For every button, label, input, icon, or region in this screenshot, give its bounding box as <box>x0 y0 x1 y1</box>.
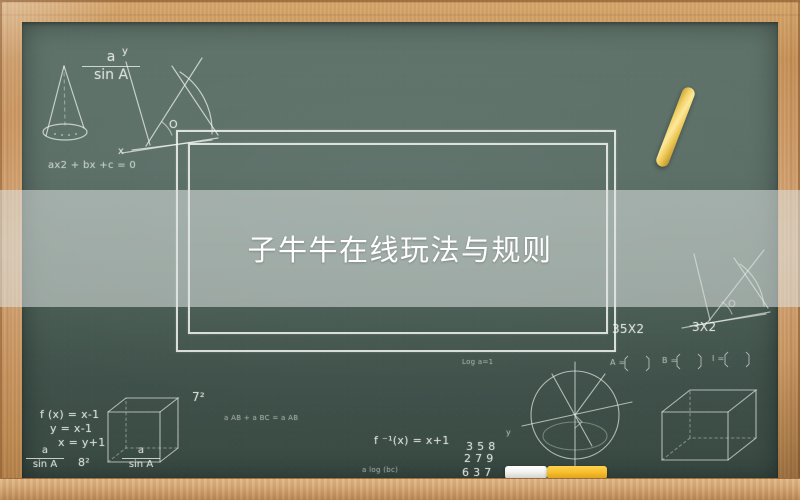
fraction-a-over-sinA-left: a sin A <box>26 446 64 470</box>
angle-diagram-icon <box>122 58 218 153</box>
cube-drawing-left-icon <box>108 398 178 462</box>
matrix-i: I = <box>712 354 725 363</box>
multiplication-3x2: 3X2 <box>692 320 716 334</box>
long-division-row-3: 6 3 7 <box>462 466 492 478</box>
log-small: Log a=1 <box>462 358 493 366</box>
circle-diagram-icon <box>522 362 632 468</box>
fraction-a-over-sinA-mid: a sin A <box>122 446 160 470</box>
long-division-row-2: 2 7 9 <box>464 452 494 465</box>
chalkboard-banner: a sin A y x O ax2 + bx +c = 0 O <box>0 0 800 500</box>
fraction-numerator: a <box>82 50 140 65</box>
fraction-numerator: a <box>26 446 64 457</box>
chalk-stick-yellow-tilted[interactable] <box>654 85 696 168</box>
vector-sum: a AB + a BC = a AB <box>224 414 298 422</box>
fraction-denominator: sin A <box>26 460 64 471</box>
fraction-bar <box>26 458 64 459</box>
axis-label-x-right: y <box>506 428 511 437</box>
matrix-a: A = <box>610 358 626 367</box>
function-line-2: y = x-1 <box>50 422 92 435</box>
function-line-3: x = y+1 <box>58 436 106 449</box>
fraction-a-over-sinA: a sin A <box>82 50 140 82</box>
eight-squared: 8² <box>78 456 90 469</box>
seven-squared: 7² <box>192 390 205 404</box>
angle-label-o-right: O <box>728 299 736 310</box>
long-division-row-1: 3 5 8 <box>466 440 496 453</box>
fraction-bar <box>82 66 140 67</box>
matrix-b: B = <box>662 356 678 365</box>
fraction-numerator: a <box>122 446 160 457</box>
cube-drawing-right-icon <box>662 390 756 460</box>
angle-label-o: O <box>169 118 178 131</box>
fraction-denominator: sin A <box>122 460 160 471</box>
quadratic-equation: ax2 + bx +c = 0 <box>48 160 136 171</box>
fraction-bar <box>122 458 160 459</box>
cone-icon <box>43 66 87 140</box>
fraction-denominator: sin A <box>82 68 140 83</box>
chalk-ledge <box>0 478 800 500</box>
inverse-function: f ⁻¹(x) = x+1 <box>374 434 450 447</box>
log-identity: a log (bc) <box>362 466 398 474</box>
function-line-1: f (x) = x-1 <box>40 408 99 421</box>
page-title: 子牛牛在线玩法与规则 <box>0 232 800 268</box>
multiplication-35x2: 35X2 <box>612 322 644 336</box>
axis-label-y: y <box>122 46 128 57</box>
axis-label-x: x <box>118 146 124 157</box>
